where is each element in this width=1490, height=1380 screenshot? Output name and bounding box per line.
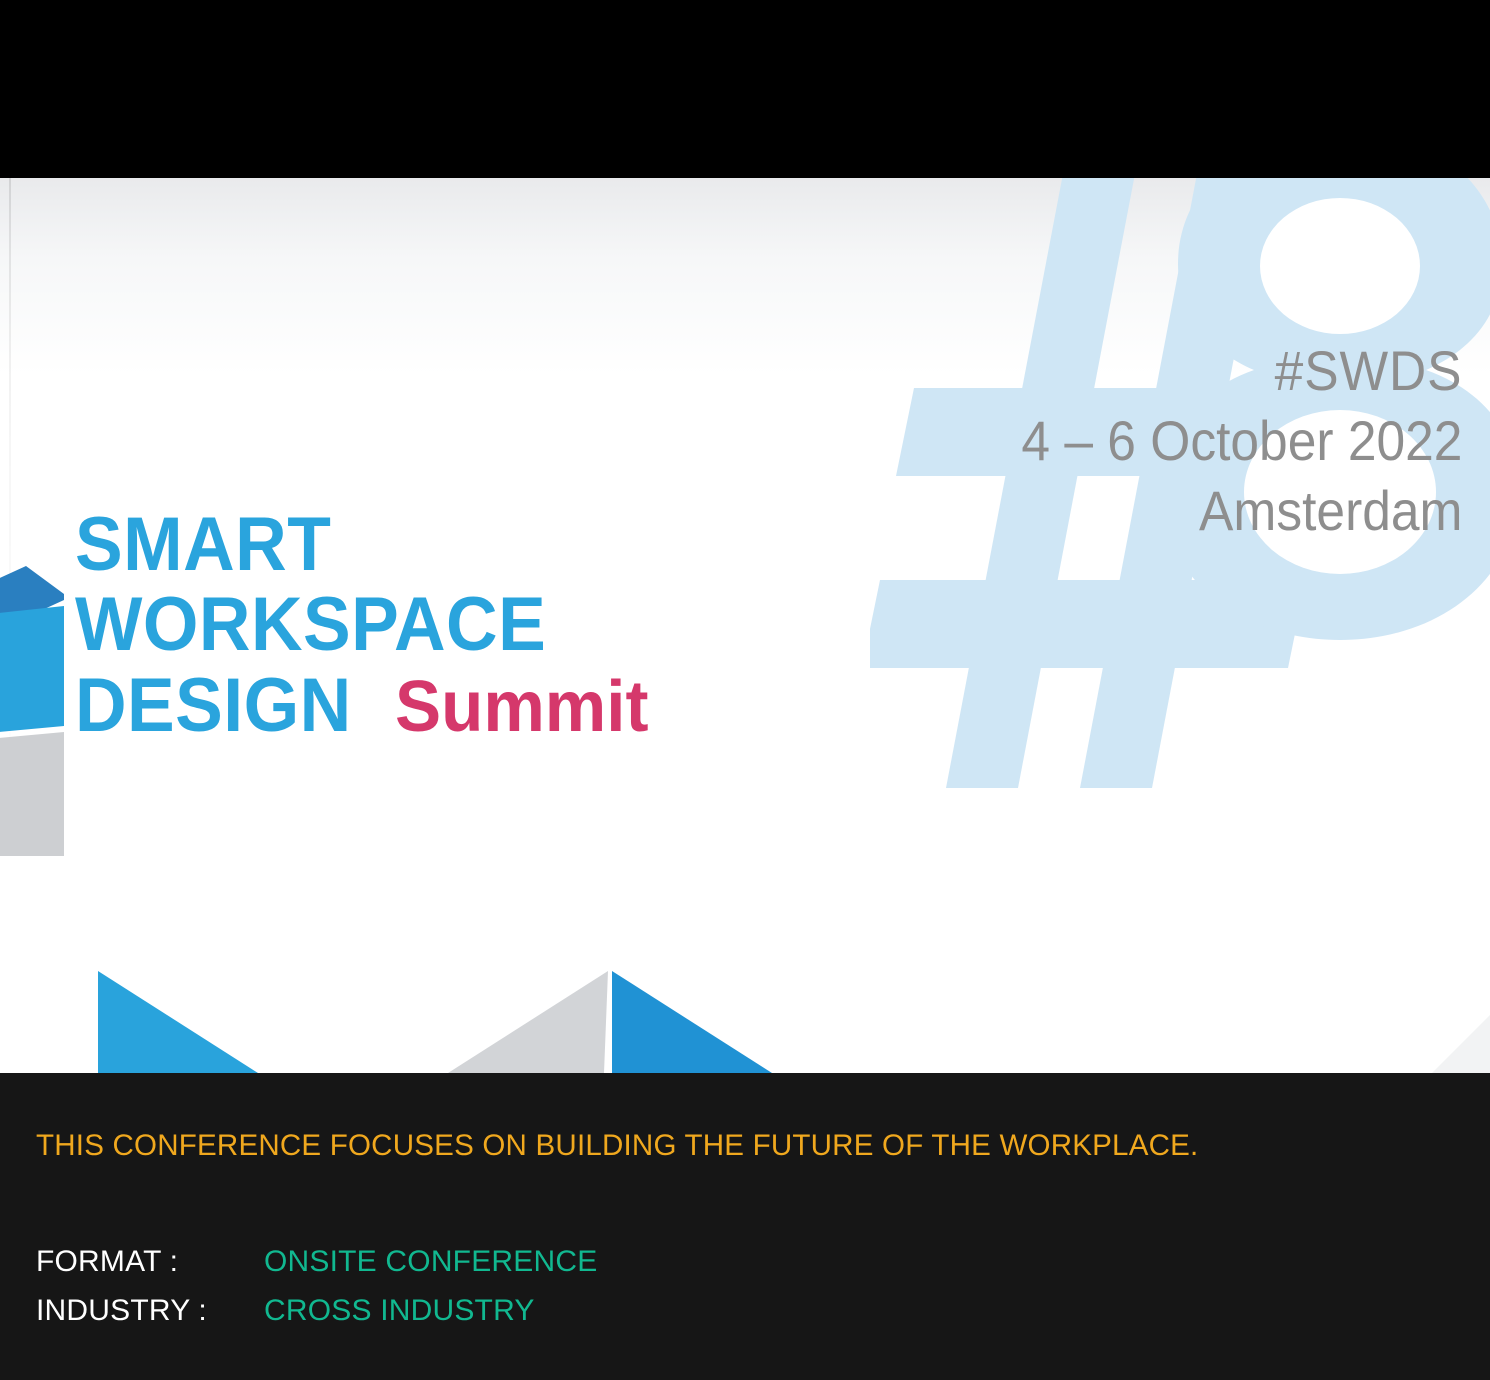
logo-line-design: DESIGN — [75, 669, 352, 743]
fact-label-format: FORMAT : — [36, 1245, 264, 1279]
left-chevron-block-icon — [0, 566, 64, 856]
info-panel: THIS CONFERENCE FOCUSES ON BUILDING THE … — [0, 1073, 1490, 1380]
event-meta-block: #SWDS 4 – 6 October 2022 Amsterdam — [983, 338, 1462, 544]
fact-value-format: ONSITE CONFERENCE — [264, 1245, 597, 1279]
page-root: SMART WORKSPACE DESIGN Summit #SWDS 4 – … — [0, 0, 1490, 1380]
triangle-frieze-decoration — [0, 963, 1490, 1073]
event-banner: SMART WORKSPACE DESIGN Summit #SWDS 4 – … — [0, 178, 1490, 1073]
logo-line-design-row: DESIGN Summit — [75, 669, 775, 743]
panel-fact-list: FORMAT : ONSITE CONFERENCE INDUSTRY : CR… — [36, 1245, 597, 1343]
fact-row-industry: INDUSTRY : CROSS INDUSTRY — [36, 1294, 597, 1343]
fact-row-format: FORMAT : ONSITE CONFERENCE — [36, 1245, 597, 1294]
logo-word-summit: Summit — [395, 671, 648, 743]
panel-headline: THIS CONFERENCE FOCUSES ON BUILDING THE … — [36, 1129, 1198, 1163]
fact-value-industry: CROSS INDUSTRY — [264, 1294, 535, 1328]
event-dates: 4 – 6 October 2022 — [1021, 408, 1462, 474]
logo-line-workspace: WORKSPACE — [75, 588, 733, 662]
fact-label-industry: INDUSTRY : — [36, 1294, 264, 1328]
event-hashtag: #SWDS — [1021, 338, 1462, 404]
logo-line-smart: SMART — [75, 508, 733, 582]
event-city: Amsterdam — [1021, 478, 1462, 544]
event-logo: SMART WORKSPACE DESIGN Summit — [75, 508, 775, 743]
top-letterbox-bar — [0, 0, 1490, 178]
